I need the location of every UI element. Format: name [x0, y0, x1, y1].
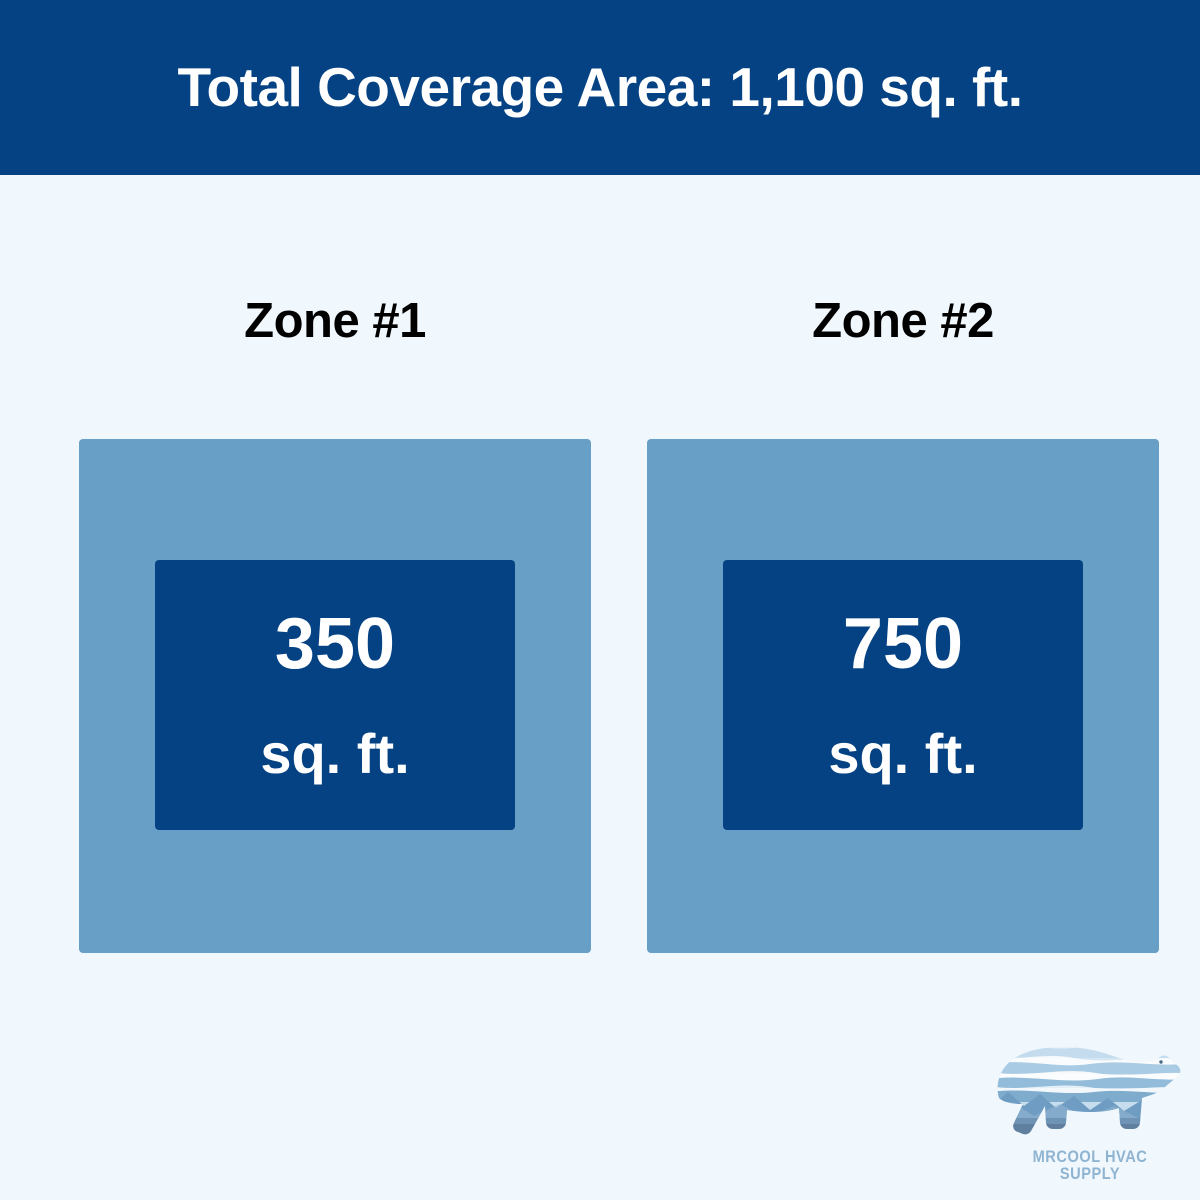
zone-unit-1: sq. ft.	[260, 726, 409, 782]
zone-card-2: Zone #2 750 sq. ft.	[647, 175, 1159, 975]
logo-wordmark: MRCOOL HVAC SUPPLY	[1004, 1148, 1176, 1182]
zone-value-1: 350	[275, 608, 395, 680]
zone-outer-area-1: 350 sq. ft.	[79, 439, 591, 953]
zone-card-1: Zone #1 350 sq. ft.	[79, 175, 591, 975]
zone-label-2: Zone #2	[647, 297, 1159, 346]
zone-inner-area-1: 350 sq. ft.	[155, 560, 515, 830]
infographic-canvas: Total Coverage Area: 1,100 sq. ft. Zone …	[0, 0, 1200, 1200]
zone-value-2: 750	[843, 608, 963, 680]
polar-bear-icon	[990, 1036, 1190, 1148]
zone-outer-area-2: 750 sq. ft.	[647, 439, 1159, 953]
bear-eye-icon	[1159, 1060, 1162, 1063]
zone-inner-area-2: 750 sq. ft.	[723, 560, 1083, 830]
brand-logo: MRCOOL HVAC SUPPLY	[990, 1036, 1190, 1186]
page-title: Total Coverage Area: 1,100 sq. ft.	[158, 57, 1043, 118]
zones-container: Zone #1 350 sq. ft. Zone #2 750 sq. ft.	[0, 175, 1200, 975]
zone-label-1: Zone #1	[79, 297, 591, 346]
header-banner: Total Coverage Area: 1,100 sq. ft.	[0, 0, 1200, 175]
zone-unit-2: sq. ft.	[828, 726, 977, 782]
